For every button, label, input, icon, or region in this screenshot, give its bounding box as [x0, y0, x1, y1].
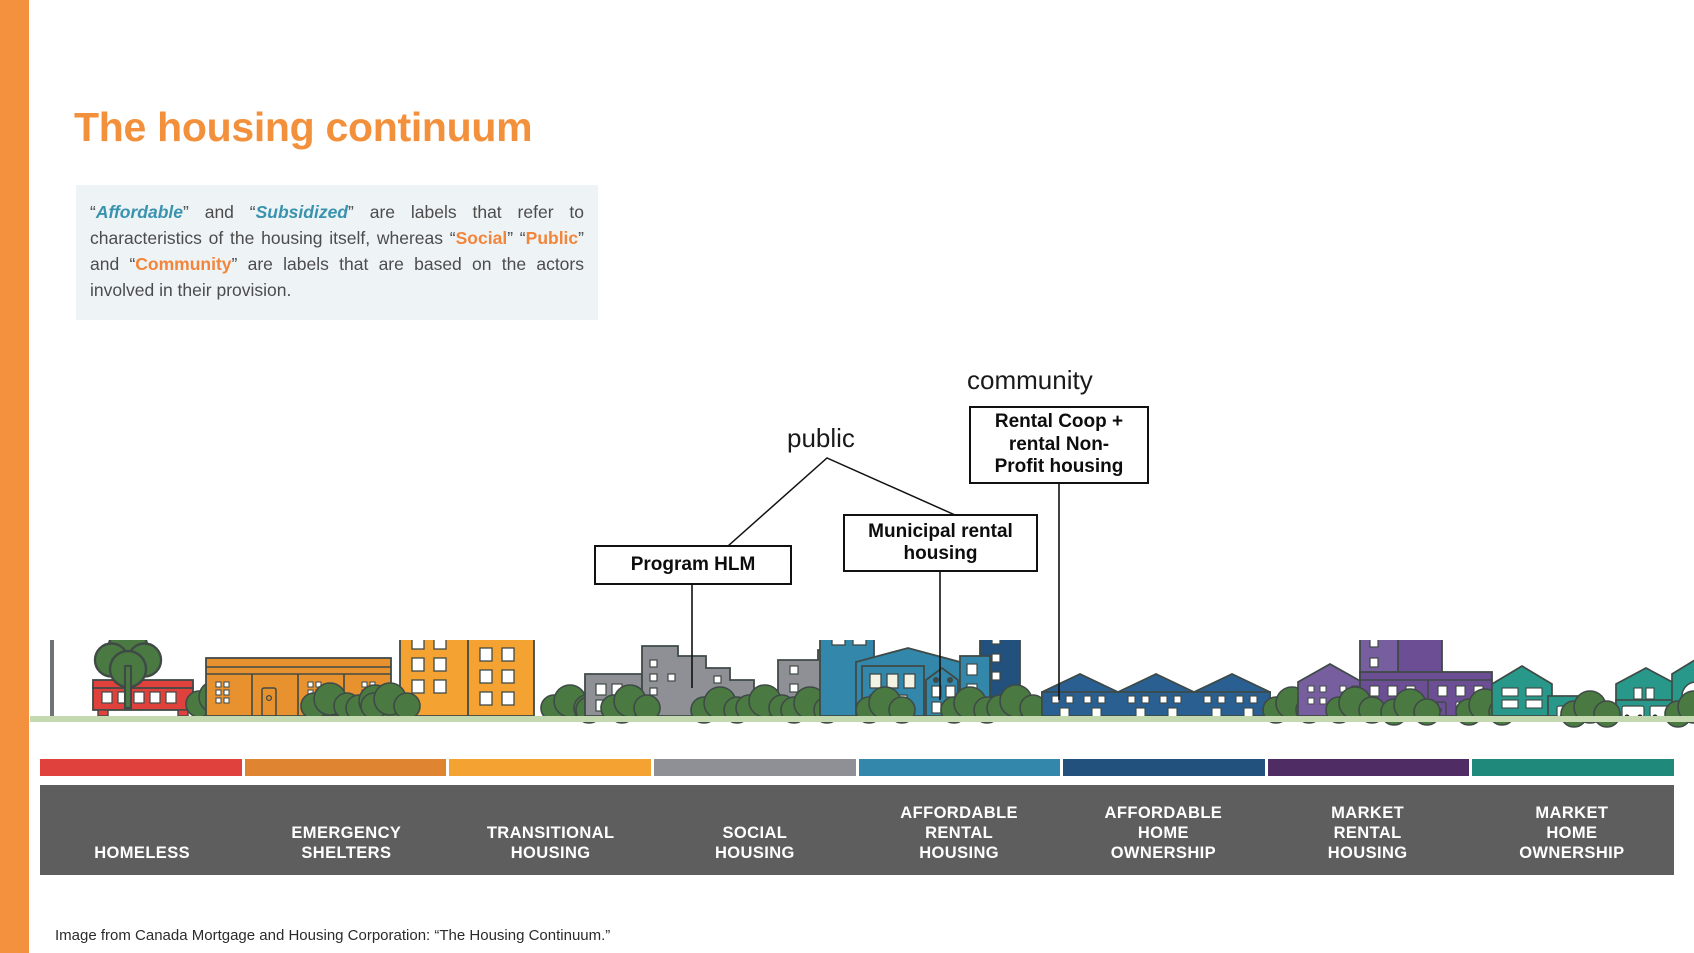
intro-callout-text: “Affordable” and “Subsidized” are labels… [90, 200, 584, 304]
intro-segment-6: ” “ [507, 228, 525, 248]
category-affordable-rental-housing: AFFORDABLE RENTAL HOUSING [857, 785, 1061, 875]
intro-segment-3: Subsidized [256, 202, 348, 222]
page-title: The housing continuum [74, 104, 532, 151]
cityscape-segment-social-housing [585, 646, 842, 723]
color-segment-1 [245, 759, 447, 776]
cityscape-segment-market-rental-housing [1298, 640, 1515, 725]
annotation-label-public: public [787, 423, 855, 454]
annotation-box-program-hlm: Program HLM [594, 545, 792, 585]
category-transitional-housing: TRANSITIONAL HOUSING [449, 785, 653, 875]
intro-segment-7: Public [526, 228, 579, 248]
category-label: SOCIAL HOUSING [715, 823, 795, 863]
category-market-home-ownership: MARKET HOME OWNERSHIP [1470, 785, 1674, 875]
category-affordable-home-ownership: AFFORDABLE HOME OWNERSHIP [1061, 785, 1265, 875]
annotation-box-program-hlm-text: Program HLM [631, 554, 756, 576]
annotation-box-municipal-rental-housing: Municipal rental housing [843, 514, 1038, 572]
color-segment-2 [449, 759, 651, 776]
intro-segment-5: Social [456, 228, 508, 248]
category-market-rental-housing: MARKET RENTAL HOUSING [1266, 785, 1470, 875]
category-label: EMERGENCY SHELTERS [291, 823, 401, 863]
color-segment-4 [859, 759, 1061, 776]
annotation-box-municipal-rental-housing-text: Municipal rental housing [868, 521, 1013, 566]
intro-segment-9: Community [135, 254, 231, 274]
category-label: MARKET RENTAL HOUSING [1328, 803, 1408, 863]
category-label: AFFORDABLE HOME OWNERSHIP [1105, 803, 1223, 863]
continuum-category-bar: HOMELESSEMERGENCY SHELTERSTRANSITIONAL H… [40, 785, 1674, 875]
category-label: AFFORDABLE RENTAL HOUSING [900, 803, 1018, 863]
continuum-color-bar [40, 759, 1674, 776]
category-social-housing: SOCIAL HOUSING [653, 785, 857, 875]
color-segment-6 [1268, 759, 1470, 776]
intro-callout-box: “Affordable” and “Subsidized” are labels… [76, 185, 598, 320]
color-segment-0 [40, 759, 242, 776]
color-segment-5 [1063, 759, 1265, 776]
category-homeless: HOMELESS [40, 785, 244, 875]
color-segment-7 [1472, 759, 1674, 776]
annotation-box-rental-coop-text: Rental Coop + rental Non- Profit housing [995, 411, 1124, 478]
category-emergency-shelters: EMERGENCY SHELTERS [244, 785, 448, 875]
category-label: MARKET HOME OWNERSHIP [1519, 803, 1624, 863]
footer-caption: Image from Canada Mortgage and Housing C… [55, 927, 610, 944]
cityscape-illustration [30, 640, 1694, 760]
category-label: HOMELESS [94, 843, 190, 863]
annotation-box-rental-coop: Rental Coop + rental Non- Profit housing [969, 406, 1149, 484]
left-accent-bar [0, 0, 29, 953]
category-label: TRANSITIONAL HOUSING [487, 823, 615, 863]
color-segment-3 [654, 759, 856, 776]
intro-segment-1: Affordable [96, 202, 183, 222]
annotation-label-community: community [967, 365, 1093, 396]
intro-segment-2: ” and “ [183, 202, 256, 222]
